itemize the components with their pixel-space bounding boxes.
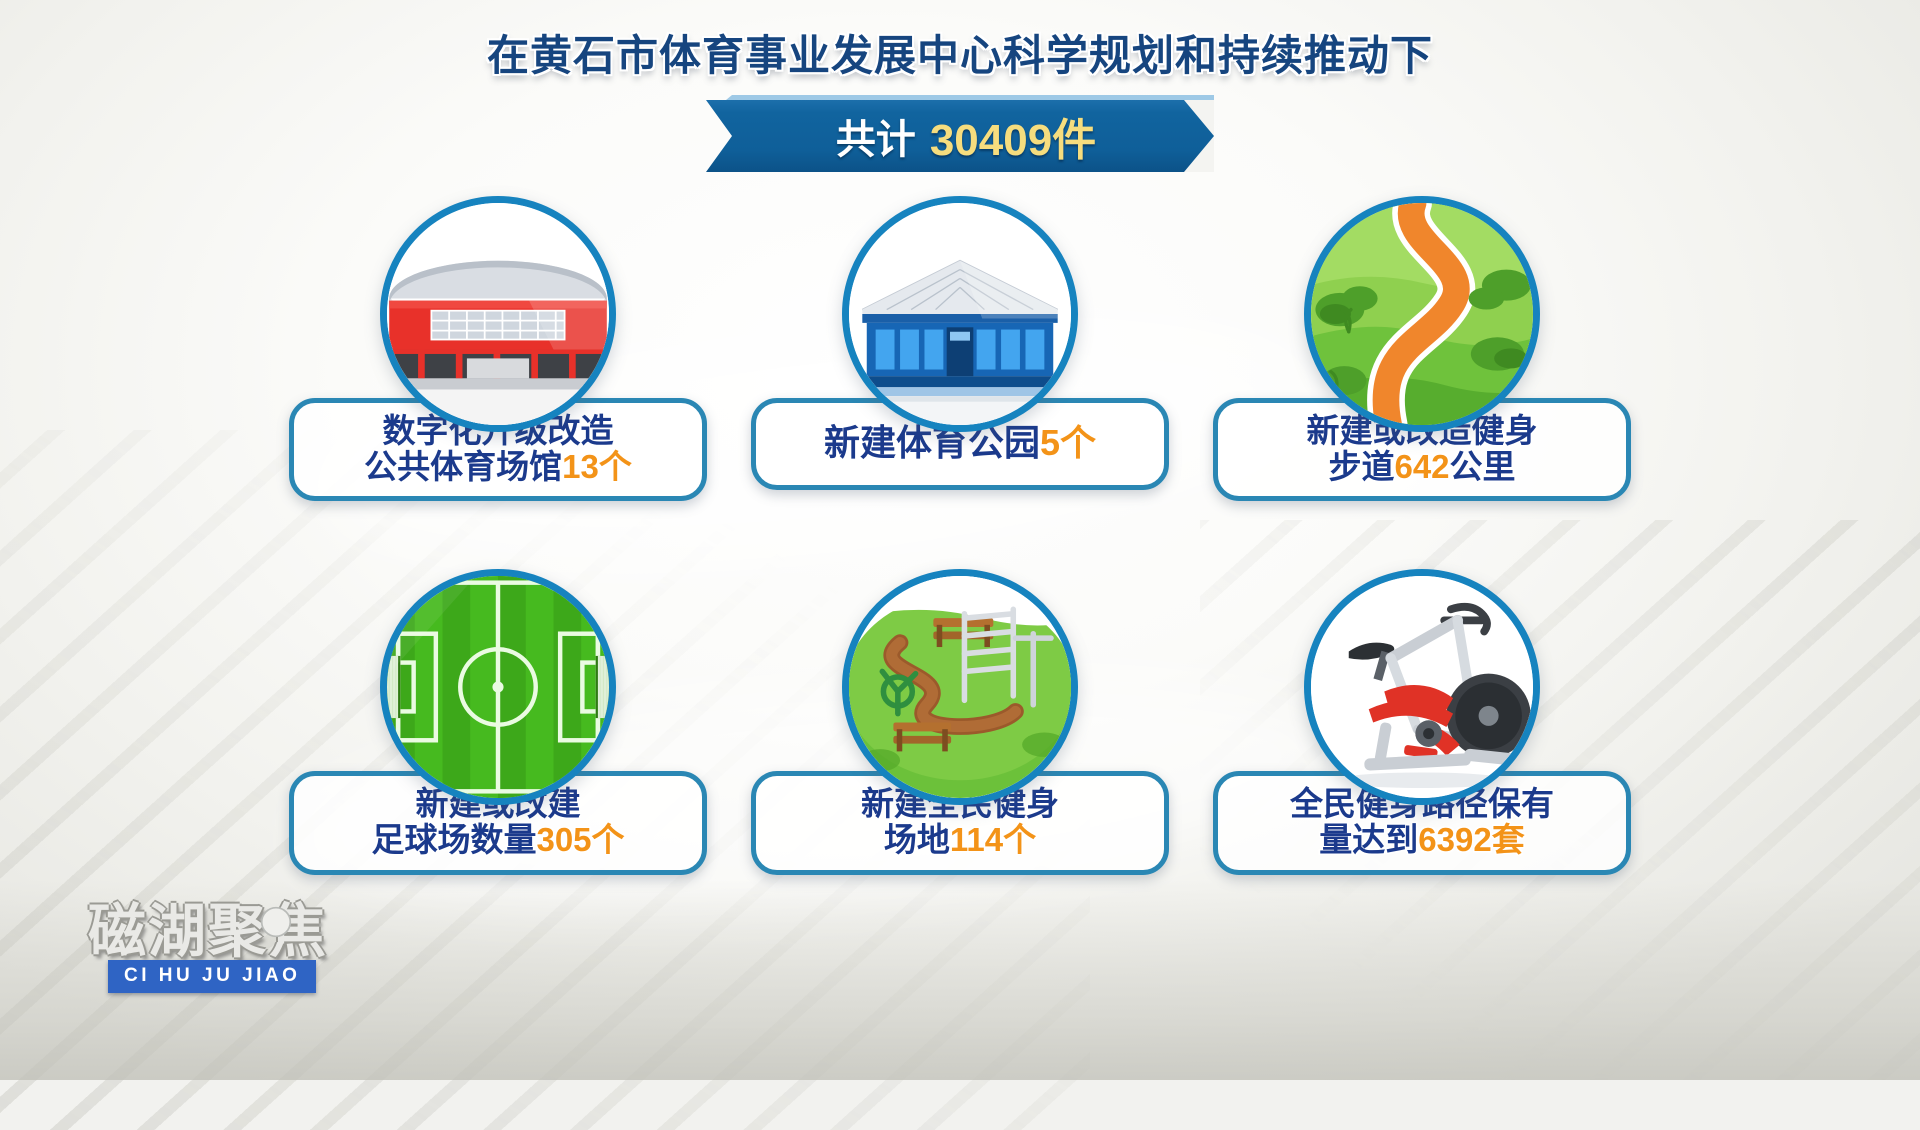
stat-number: 5 bbox=[1040, 422, 1060, 463]
stat-card-fitness-paths[interactable]: 全民健身路径保有 量达到6392套 bbox=[1213, 569, 1631, 874]
channel-logo-pinyin: CI HU JU JIAO bbox=[108, 960, 316, 993]
stat-number: 13 bbox=[562, 448, 599, 485]
stat-unit: 个 bbox=[1060, 422, 1096, 463]
stat-unit: 个 bbox=[1003, 821, 1036, 858]
infographic-stage: 在黄石市体育事业发展中心科学规划和持续推动下 共计 30409件 bbox=[0, 0, 1920, 1080]
ribbon-text: 共计 30409件 bbox=[706, 100, 1214, 172]
exercise-bike-icon bbox=[1304, 569, 1540, 805]
stat-card-fitness-venues[interactable]: 新建全民健身 场地114个 bbox=[751, 569, 1169, 874]
total-ribbon: 共计 30409件 bbox=[706, 100, 1214, 172]
stat-line-2-prefix: 步道 bbox=[1328, 448, 1394, 485]
stat-number: 305 bbox=[536, 821, 591, 858]
stadium-arena-icon bbox=[380, 196, 616, 432]
stat-unit: 套 bbox=[1492, 821, 1525, 858]
stat-card-fitness-trails[interactable]: 新建或改造健身 步道642公里 bbox=[1213, 196, 1631, 501]
fitness-trail-icon bbox=[1304, 196, 1540, 432]
outdoor-gym-icon bbox=[842, 569, 1078, 805]
ribbon-value: 30409件 bbox=[930, 104, 1096, 168]
stat-card-soccer-fields[interactable]: 新建或改建 足球场数量305个 bbox=[289, 569, 707, 874]
stat-number: 6392 bbox=[1418, 821, 1491, 858]
sports-park-hall-icon bbox=[842, 196, 1078, 432]
page-title: 在黄石市体育事业发展中心科学规划和持续推动下 bbox=[0, 22, 1920, 83]
stat-card-sports-parks[interactable]: 新建体育公园5个 bbox=[751, 196, 1169, 501]
stat-line-2-prefix: 量达到 bbox=[1319, 821, 1418, 858]
stats-row-top: 数字化升级改造 公共体育场馆13个 bbox=[0, 196, 1920, 501]
stat-number: 642 bbox=[1394, 448, 1449, 485]
ribbon-label: 共计 bbox=[836, 107, 916, 165]
channel-logo: 磁湖聚焦 CI HU JU JIAO bbox=[88, 888, 458, 1008]
stat-card-digital-venues[interactable]: 数字化升级改造 公共体育场馆13个 bbox=[289, 196, 707, 501]
logo-ring-icon bbox=[234, 880, 318, 964]
stat-line-2-prefix: 公共体育场馆 bbox=[364, 448, 562, 485]
stat-unit: 个 bbox=[592, 821, 625, 858]
stat-line-2-prefix: 足球场数量 bbox=[371, 821, 536, 858]
soccer-field-icon bbox=[380, 569, 616, 805]
stat-unit: 公里 bbox=[1450, 448, 1516, 485]
stat-line-2-prefix: 场地 bbox=[884, 821, 950, 858]
stat-unit: 个 bbox=[599, 448, 632, 485]
stat-number: 114 bbox=[950, 821, 1003, 858]
stats-grid: 数字化升级改造 公共体育场馆13个 bbox=[0, 196, 1920, 875]
stats-row-bottom: 新建或改建 足球场数量305个 bbox=[0, 569, 1920, 874]
